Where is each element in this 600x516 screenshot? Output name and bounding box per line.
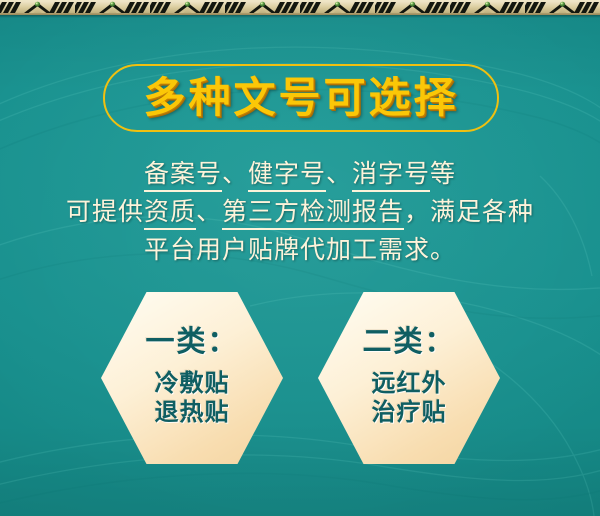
promo-poster: 多种文号可选择 备案号、健字号、消字号等可提供资质、第三方检测报告，满足各种平台… xyxy=(0,0,600,516)
category-one-item: 退热贴 xyxy=(155,399,230,428)
body-line: 平台用户贴牌代加工需求。 xyxy=(30,232,570,270)
body-segment: 可提供 xyxy=(66,199,144,226)
body-segment: 、 xyxy=(222,161,248,188)
body-segment: ，满足各种 xyxy=(404,199,534,226)
ornamental-top-border xyxy=(0,0,600,15)
top-border-shadow xyxy=(0,15,600,18)
body-segment: 平台用户贴牌代加工需求。 xyxy=(144,237,456,264)
page-title: 多种文号可选择 xyxy=(105,77,497,119)
body-segment-underlined: 健字号 xyxy=(248,161,326,192)
body-segment-underlined: 资质 xyxy=(144,199,196,230)
category-two-item: 治疗贴 xyxy=(372,399,447,428)
body-segment-underlined: 第三方检测报告 xyxy=(222,199,404,230)
category-two-items: 远红外 治疗贴 xyxy=(372,370,447,428)
body-copy: 备案号、健字号、消字号等可提供资质、第三方检测报告，满足各种平台用户贴牌代加工需… xyxy=(30,156,570,270)
category-one-item: 冷敷贴 xyxy=(155,370,230,399)
body-line: 备案号、健字号、消字号等 xyxy=(30,156,570,194)
category-two-item: 远红外 xyxy=(372,370,447,399)
body-segment-underlined: 消字号 xyxy=(352,161,430,192)
category-two-heading: 二类： xyxy=(362,328,455,357)
body-segment-underlined: 备案号 xyxy=(144,161,222,192)
title-plate: 多种文号可选择 xyxy=(103,64,499,132)
body-segment: 等 xyxy=(430,161,456,188)
category-one-heading: 一类： xyxy=(145,328,238,357)
body-line: 可提供资质、第三方检测报告，满足各种 xyxy=(30,194,570,232)
body-segment: 、 xyxy=(196,199,222,226)
body-segment: 、 xyxy=(326,161,352,188)
category-one-items: 冷敷贴 退热贴 xyxy=(155,370,230,428)
